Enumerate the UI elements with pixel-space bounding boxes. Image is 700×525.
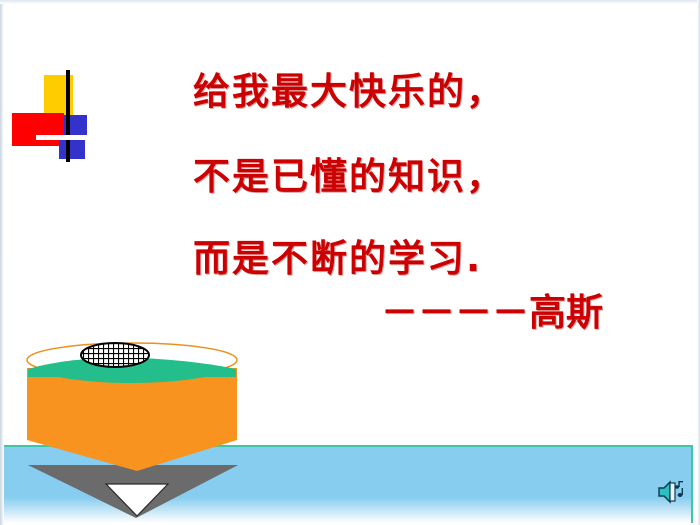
horizontal-bar-icon <box>36 135 96 140</box>
mondrian-decoration <box>12 70 104 162</box>
quote-attribution: －－－－高斯 <box>381 294 603 331</box>
sound-speaker-icon[interactable] <box>656 478 686 506</box>
funnel-illustration <box>18 338 248 520</box>
quote-line-2: 不是已懂的知识， <box>193 158 505 195</box>
quote-line-3: 而是不断的学习. <box>193 240 482 277</box>
presentation-slide: 给我最大快乐的， 不是已懂的知识， 而是不断的学习. －－－－高斯 <box>0 0 700 525</box>
slide-edge-top <box>0 0 700 4</box>
quote-line-1: 给我最大快乐的， <box>193 73 505 110</box>
red-square-icon <box>12 113 64 146</box>
vertical-bar-icon <box>66 70 70 162</box>
blue-square-lower-icon <box>59 140 85 159</box>
funnel-liquid-band <box>28 369 236 377</box>
